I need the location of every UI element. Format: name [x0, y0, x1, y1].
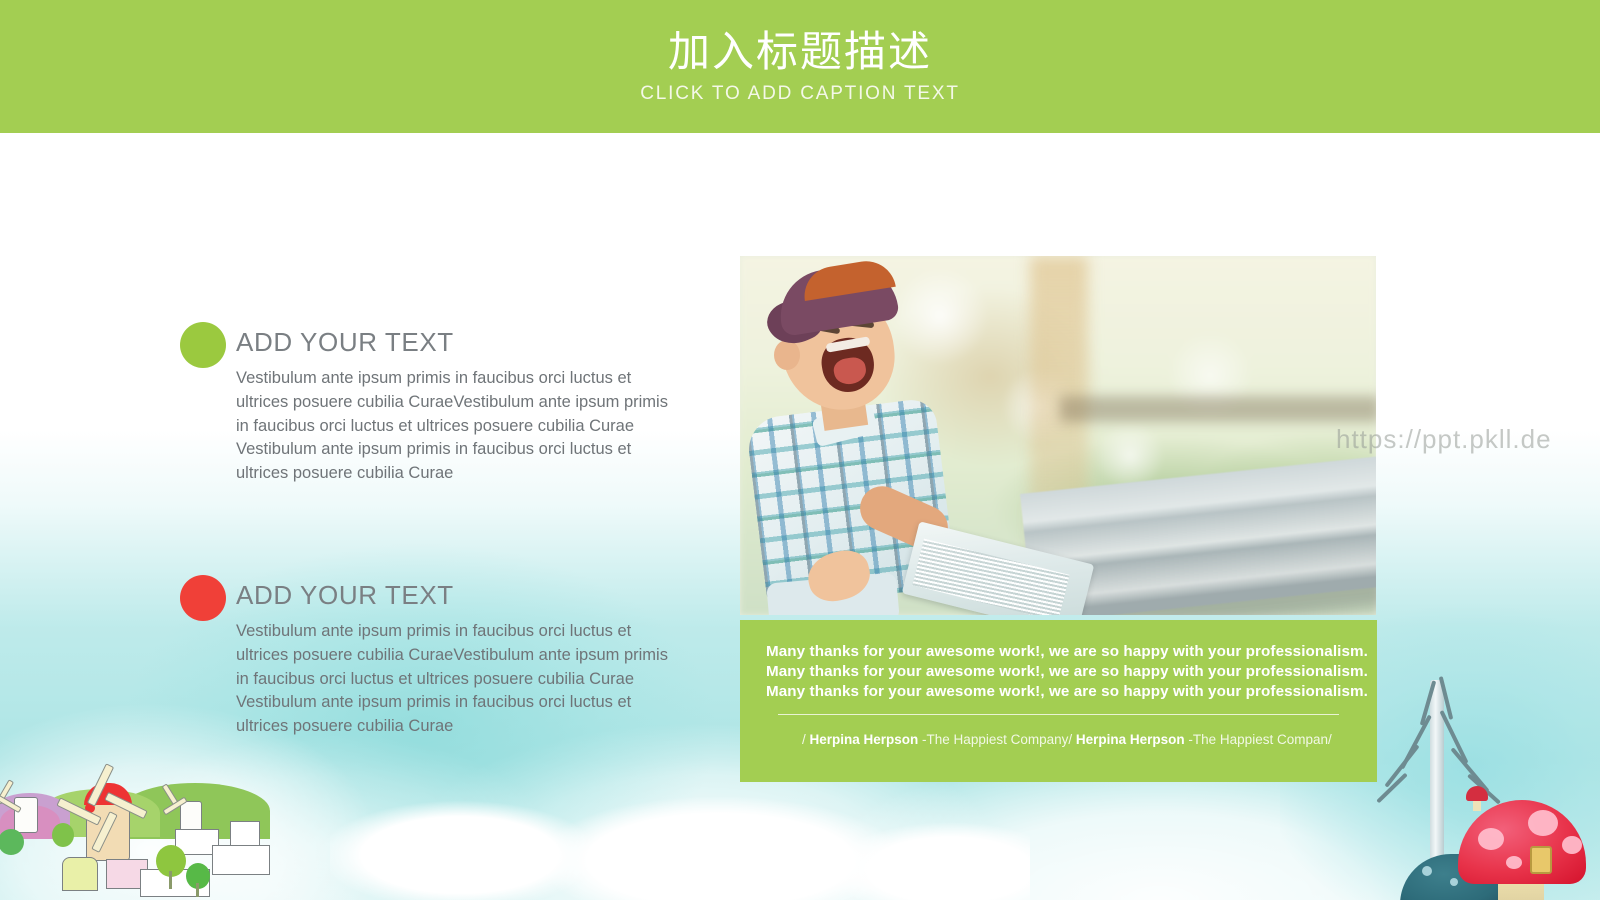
slide-canvas: 加入标题描述 CLICK TO ADD CAPTION TEXT ADD YOU… [0, 0, 1600, 900]
testimonial-line-2: Many thanks for your awesome work!, we a… [766, 662, 1351, 682]
teal-mushroom-spot-2 [1450, 878, 1458, 886]
attribution-name-1: Herpina Herpson [810, 732, 919, 747]
birch-branch-3 [1384, 744, 1419, 787]
testimonial-line-3: Many thanks for your awesome work!, we a… [766, 682, 1351, 702]
content-block-1-body: Vestibulum ante ipsum primis in faucibus… [236, 367, 676, 486]
content-block-2-paragraph-1: Vestibulum ante ipsum primis in faucibus… [236, 620, 676, 691]
mushroom-spot-1 [1478, 828, 1504, 850]
village-illustration [0, 745, 300, 900]
village-tree-4 [0, 829, 24, 855]
bullet-dot-red-icon [180, 575, 226, 621]
content-block-2-heading: ADD YOUR TEXT [236, 580, 454, 611]
content-block-1-paragraph-1: Vestibulum ante ipsum primis in faucibus… [236, 367, 676, 438]
mushroom-spot-4 [1506, 856, 1522, 869]
village-windmill-small-left [14, 797, 38, 833]
attribution-name-2: Herpina Herpson [1076, 732, 1185, 747]
mushroom-spot-3 [1562, 836, 1582, 854]
attribution-company-2: -The Happiest Compan/ [1185, 732, 1332, 747]
testimonial-line-1: Many thanks for your awesome work!, we a… [766, 642, 1351, 662]
attribution-prefix: / [802, 732, 810, 747]
village-tree-2-trunk [196, 883, 199, 897]
header-band: 加入标题描述 CLICK TO ADD CAPTION TEXT [0, 0, 1600, 133]
page-subtitle: CLICK TO ADD CAPTION TEXT [640, 83, 960, 105]
attribution-company-1: -The Happiest Company/ [918, 732, 1076, 747]
content-block-1-heading: ADD YOUR TEXT [236, 327, 454, 358]
content-block-2-paragraph-2: Vestibulum ante ipsum primis in faucibus… [236, 691, 676, 739]
watermark-url: https://ppt.pkll.de [1336, 424, 1552, 455]
village-house-3 [212, 845, 270, 875]
teal-mushroom-spot-1 [1422, 866, 1432, 876]
bullet-dot-green-icon [180, 322, 226, 368]
testimonial-divider [778, 714, 1339, 715]
photo-rail [1060, 396, 1376, 422]
testimonial-attribution: / Herpina Herpson -The Happiest Company/… [766, 732, 1351, 747]
photo-boy-ear [774, 340, 800, 370]
village-tree-1-trunk [169, 871, 172, 889]
village-house-yellow [62, 857, 98, 891]
mini-mushroom-cap [1466, 786, 1488, 801]
page-title: 加入标题描述 [668, 28, 932, 76]
mushroom-house-door [1530, 846, 1552, 874]
corner-illustration [1370, 650, 1600, 900]
mushroom-spot-2 [1528, 810, 1558, 836]
testimonial-box: Many thanks for your awesome work!, we a… [740, 620, 1377, 782]
background-white-splatter [330, 780, 1030, 900]
village-tree-3 [52, 823, 74, 847]
content-block-1-paragraph-2: Vestibulum ante ipsum primis in faucibus… [236, 438, 676, 486]
photo-laughing-boy [740, 256, 1376, 615]
content-block-2-body: Vestibulum ante ipsum primis in faucibus… [236, 620, 676, 739]
